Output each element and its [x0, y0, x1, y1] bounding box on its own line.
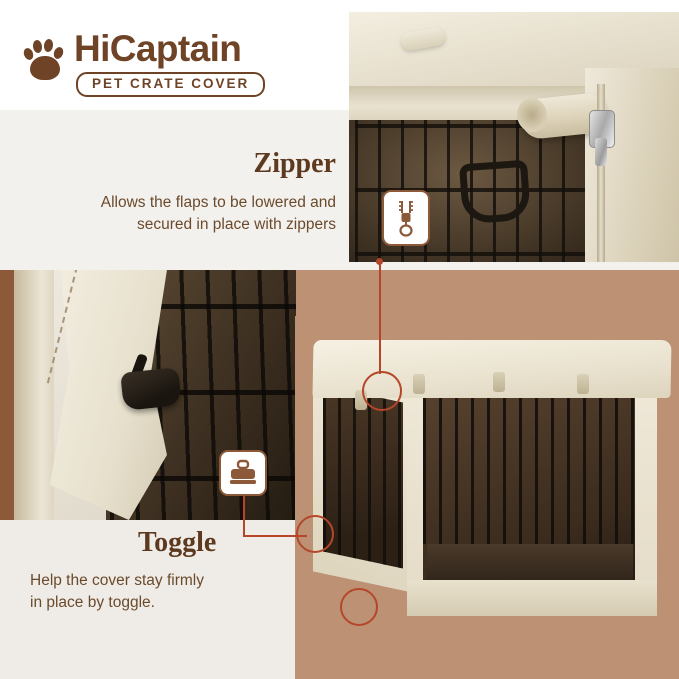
zipper-feature-body-line2: secured in place with zippers [12, 214, 336, 236]
zipper-callout-circle [362, 371, 402, 411]
toggle-callout-circle-bottom [340, 588, 378, 626]
crate-wire-bars-front [423, 394, 635, 544]
cover-strap [577, 374, 589, 394]
toggle-icon-badge [219, 450, 267, 496]
toggle-feature-body: Help the cover stay firmly in place by t… [30, 570, 280, 614]
cover-strap [413, 374, 425, 394]
toggle-feature-body-line1: Help the cover stay firmly [30, 570, 280, 592]
brand-name: HiCaptain [74, 28, 241, 70]
zipper-connector-dot [376, 258, 383, 265]
zipper-feature-body: Allows the flaps to be lowered and secur… [12, 192, 336, 236]
toggle-feature-title: Toggle [138, 527, 358, 559]
zipper-connector-line [379, 262, 381, 374]
brand-logo: HiCaptain PET CRATE COVER [22, 24, 282, 92]
zipper-tab [595, 138, 607, 166]
infographic-page: HiCaptain PET CRATE COVER [0, 0, 679, 679]
zipper-icon [393, 199, 419, 237]
paw-print-icon [24, 38, 66, 82]
cover-bottom-skirt [407, 580, 657, 616]
crate-wire-crossbar [355, 252, 599, 256]
cover-strap [493, 372, 505, 392]
toggle-icon [228, 459, 258, 487]
zipper-feature-body-line1: Allows the flaps to be lowered and [12, 192, 336, 214]
toggle-fastener [120, 367, 182, 411]
zipper-feature-title: Zipper [12, 148, 336, 180]
toggle-feature-body-line2: in place by toggle. [30, 592, 280, 614]
zipper-icon-badge [382, 190, 430, 246]
cover-edge-fabric [14, 270, 54, 520]
brand-subtitle: PET CRATE COVER [76, 72, 265, 97]
